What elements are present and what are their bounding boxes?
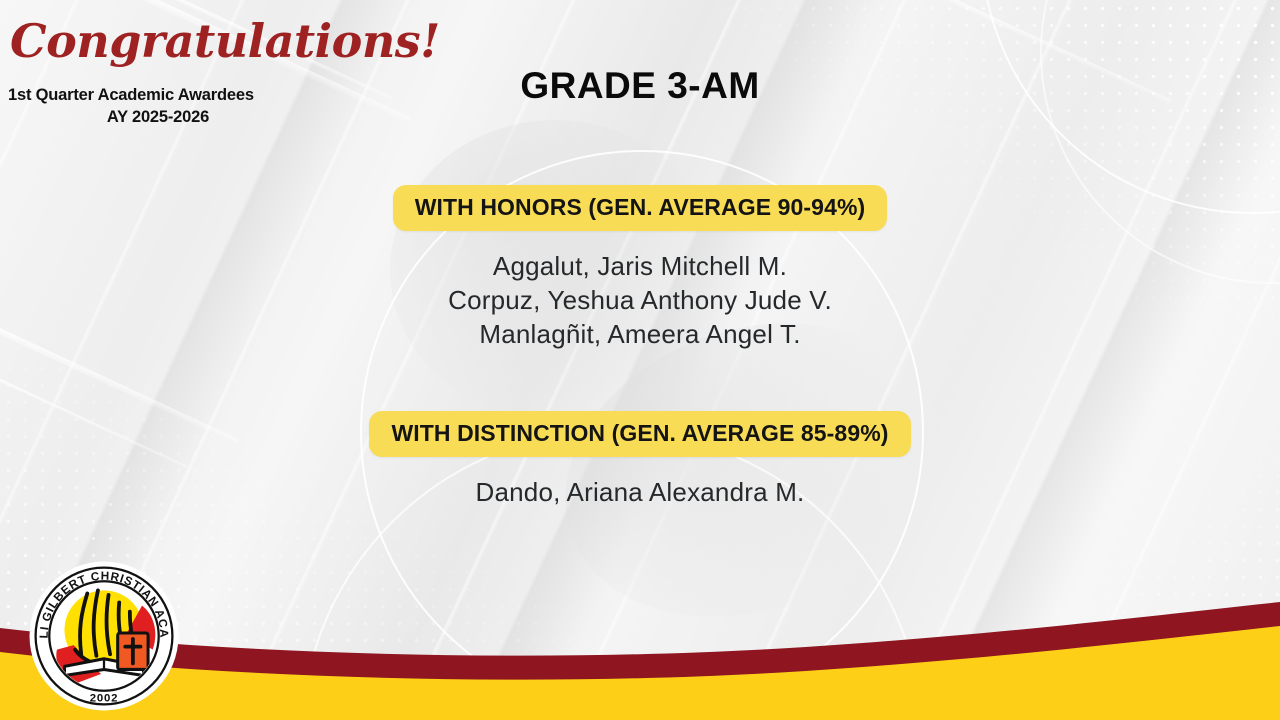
list-item: Corpuz, Yeshua Anthony Jude V. <box>0 283 1280 317</box>
list-item: Manlagñit, Ameera Angel T. <box>0 317 1280 351</box>
awardee-list-with-distinction: Dando, Ariana Alexandra M. <box>0 475 1280 509</box>
subtitle-academic-year: AY 2025-2026 <box>8 106 308 128</box>
status-badge-with-honors: WITH HONORS (GEN. AVERAGE 90-94%) <box>393 185 888 231</box>
award-section-with-honors: WITH HONORS (GEN. AVERAGE 90-94%) Aggalu… <box>0 185 1280 351</box>
page-title: GRADE 3-AM <box>0 65 1280 107</box>
list-item: Aggalut, Jaris Mitchell M. <box>0 249 1280 283</box>
list-item: Dando, Ariana Alexandra M. <box>0 475 1280 509</box>
award-sections: WITH HONORS (GEN. AVERAGE 90-94%) Aggalu… <box>0 185 1280 509</box>
logo-founding-year: 2002 <box>90 692 118 704</box>
logo-emblem <box>51 583 157 689</box>
school-logo: ANGELI GILBERT CHRISTIAN ACADEMY 2002 <box>28 560 180 712</box>
status-badge-with-distinction: WITH DISTINCTION (GEN. AVERAGE 85-89%) <box>369 411 910 457</box>
award-slide: Congratulations! 1st Quarter Academic Aw… <box>0 0 1280 720</box>
award-section-with-distinction: WITH DISTINCTION (GEN. AVERAGE 85-89%) D… <box>0 411 1280 509</box>
congratulations-heading: Congratulations! <box>10 14 440 68</box>
awardee-list-with-honors: Aggalut, Jaris Mitchell M. Corpuz, Yeshu… <box>0 249 1280 351</box>
bottom-wave-banner <box>0 590 1280 720</box>
